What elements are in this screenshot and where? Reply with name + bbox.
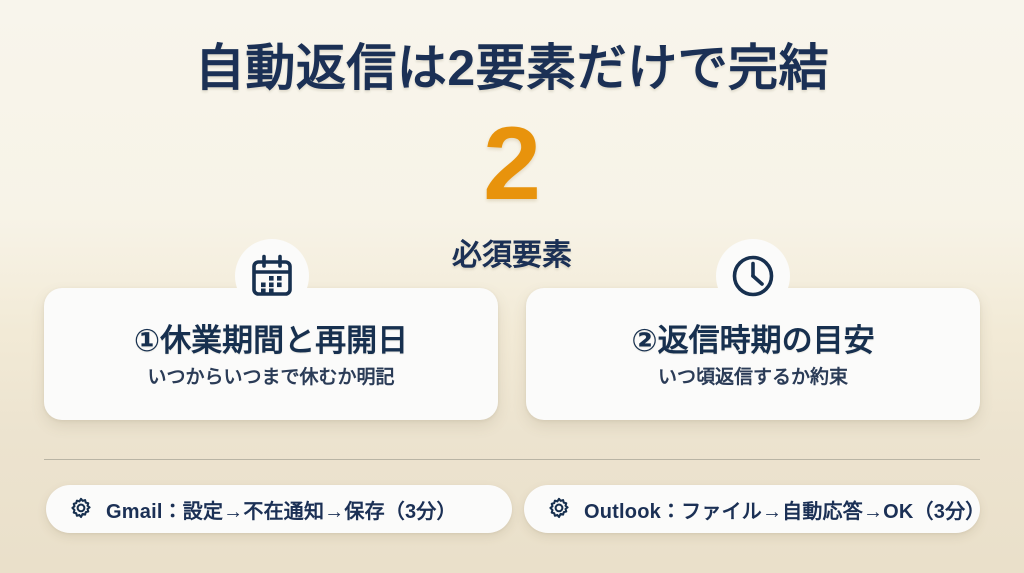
element-card-2-subtitle: いつ頃返信するか約束 <box>526 362 980 389</box>
highlight-number: 2 <box>0 112 1024 216</box>
element-card-1-icon-badge <box>235 239 309 313</box>
howto-pill-outlook-text: Outlook：ファイル→自動応答→OK（3分） <box>584 495 985 524</box>
highlight-label: 必須要素 <box>0 230 1024 274</box>
slide-canvas: 自動返信は2要素だけで完結 2 必須要素 ①休業期間と再開日 いつからいつまで休… <box>0 0 1024 573</box>
section-divider <box>44 459 980 460</box>
clock-icon <box>729 252 777 300</box>
element-card-1-subtitle: いつからいつまで休むか明記 <box>44 362 498 389</box>
howto-pill-gmail[interactable]: Gmail：設定→不在通知→保存（3分） <box>46 485 512 533</box>
element-card-2-title: ②返信時期の目安 <box>526 315 980 360</box>
gear-icon <box>546 496 572 522</box>
howto-pill-gmail-text: Gmail：設定→不在通知→保存（3分） <box>106 495 457 524</box>
calendar-icon <box>248 252 296 300</box>
element-card-1-title: ①休業期間と再開日 <box>44 315 498 360</box>
howto-pill-outlook[interactable]: Outlook：ファイル→自動応答→OK（3分） <box>524 485 980 533</box>
element-card-2-icon-badge <box>716 239 790 313</box>
page-title: 自動返信は2要素だけで完結 <box>0 28 1024 100</box>
gear-icon <box>68 496 94 522</box>
